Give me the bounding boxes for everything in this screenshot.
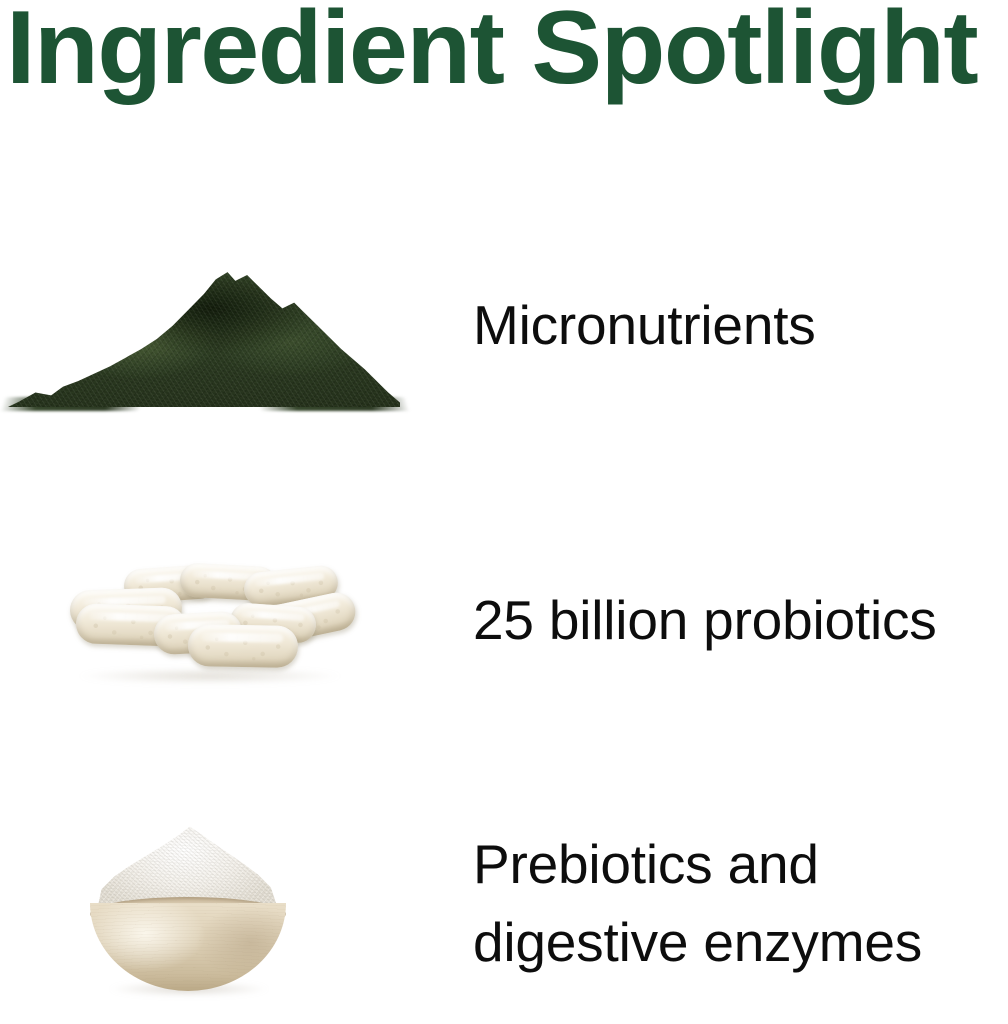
wooden-bowl-graphic	[88, 823, 288, 991]
ingredient-row-micronutrients: Micronutrients	[0, 230, 1008, 420]
capsules-drop-shadow	[76, 668, 344, 684]
green-powder-mound-graphic	[8, 262, 400, 407]
page-title: Ingredient Spotlight	[6, 0, 977, 111]
ingredient-image-capsules	[0, 545, 450, 695]
ingredient-label-probiotics: 25 billion probiotics	[473, 581, 937, 659]
ingredient-image-bowl-powder	[0, 805, 450, 1000]
capsule	[188, 624, 299, 668]
ingredient-label-prebiotics: Prebiotics and digestive enzymes	[473, 825, 922, 981]
ingredient-row-prebiotics: Prebiotics and digestive enzymes	[0, 805, 1008, 1000]
bowl-body	[90, 903, 286, 991]
capsules-pile-graphic	[62, 557, 362, 682]
ingredient-image-green-powder	[0, 230, 450, 420]
ingredient-row-probiotics: 25 billion probiotics	[0, 545, 1008, 695]
ingredient-label-micronutrients: Micronutrients	[473, 286, 816, 364]
powder-texture-overlay	[8, 262, 400, 407]
